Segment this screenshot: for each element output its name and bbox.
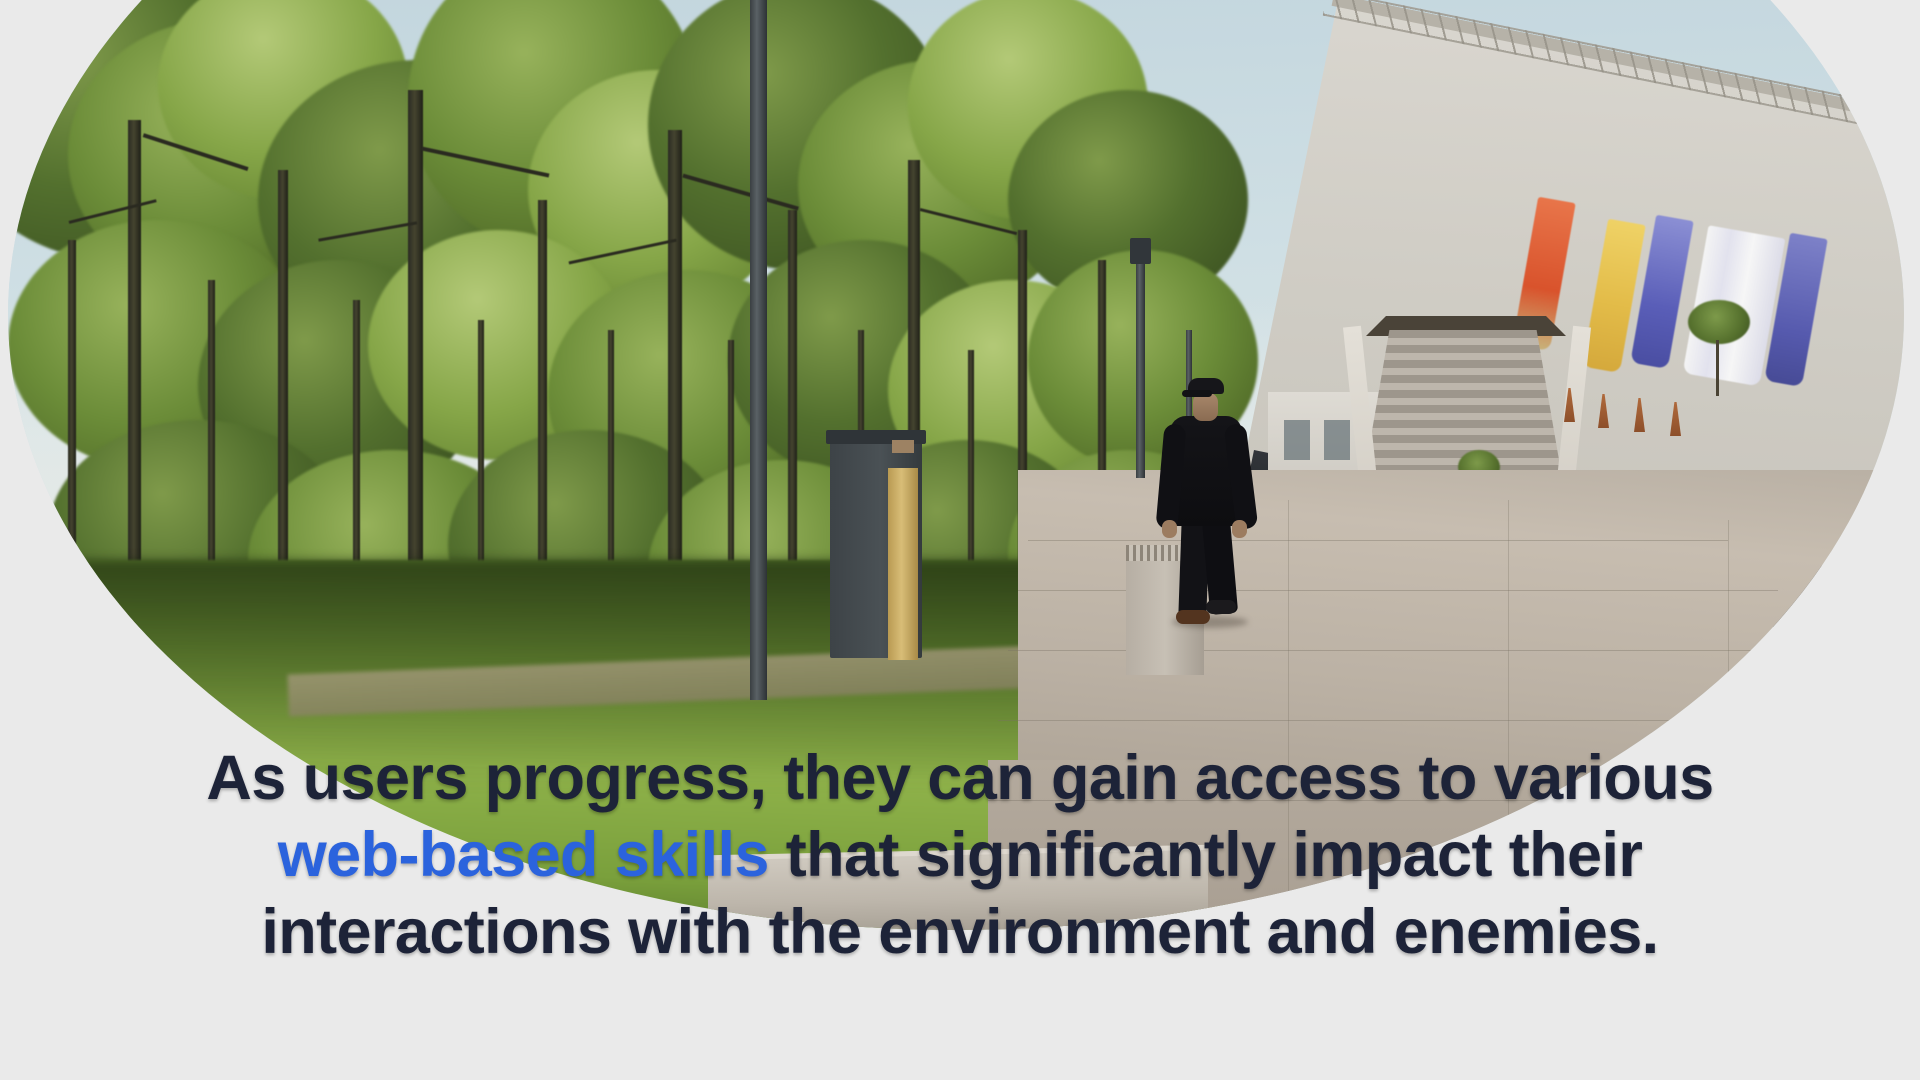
slide-stage: As users progress, they can gain access …: [0, 0, 1920, 1080]
face: [1193, 393, 1218, 421]
caption-line-2-rest: that significantly impact their: [769, 820, 1642, 890]
trash-bin-tag: [892, 440, 914, 453]
caption-line-1: As users progress, they can gain access …: [0, 740, 1920, 817]
shoe-left: [1176, 610, 1210, 624]
shoe-right: [1206, 600, 1236, 614]
caption-line-3: interactions with the environment and en…: [0, 894, 1920, 971]
lamp-pole-main: [750, 0, 767, 700]
caption-block: As users progress, they can gain access …: [0, 740, 1920, 971]
walking-man: [1148, 378, 1268, 638]
small-tree-3: [1688, 300, 1750, 344]
caption-line-2: web-based skills that significantly impa…: [0, 817, 1920, 894]
trash-bin-panel: [888, 468, 918, 660]
lamp-head-small: [1130, 238, 1151, 264]
caption-highlight: web-based skills: [278, 820, 769, 890]
lamp-pole-small: [1136, 248, 1145, 478]
